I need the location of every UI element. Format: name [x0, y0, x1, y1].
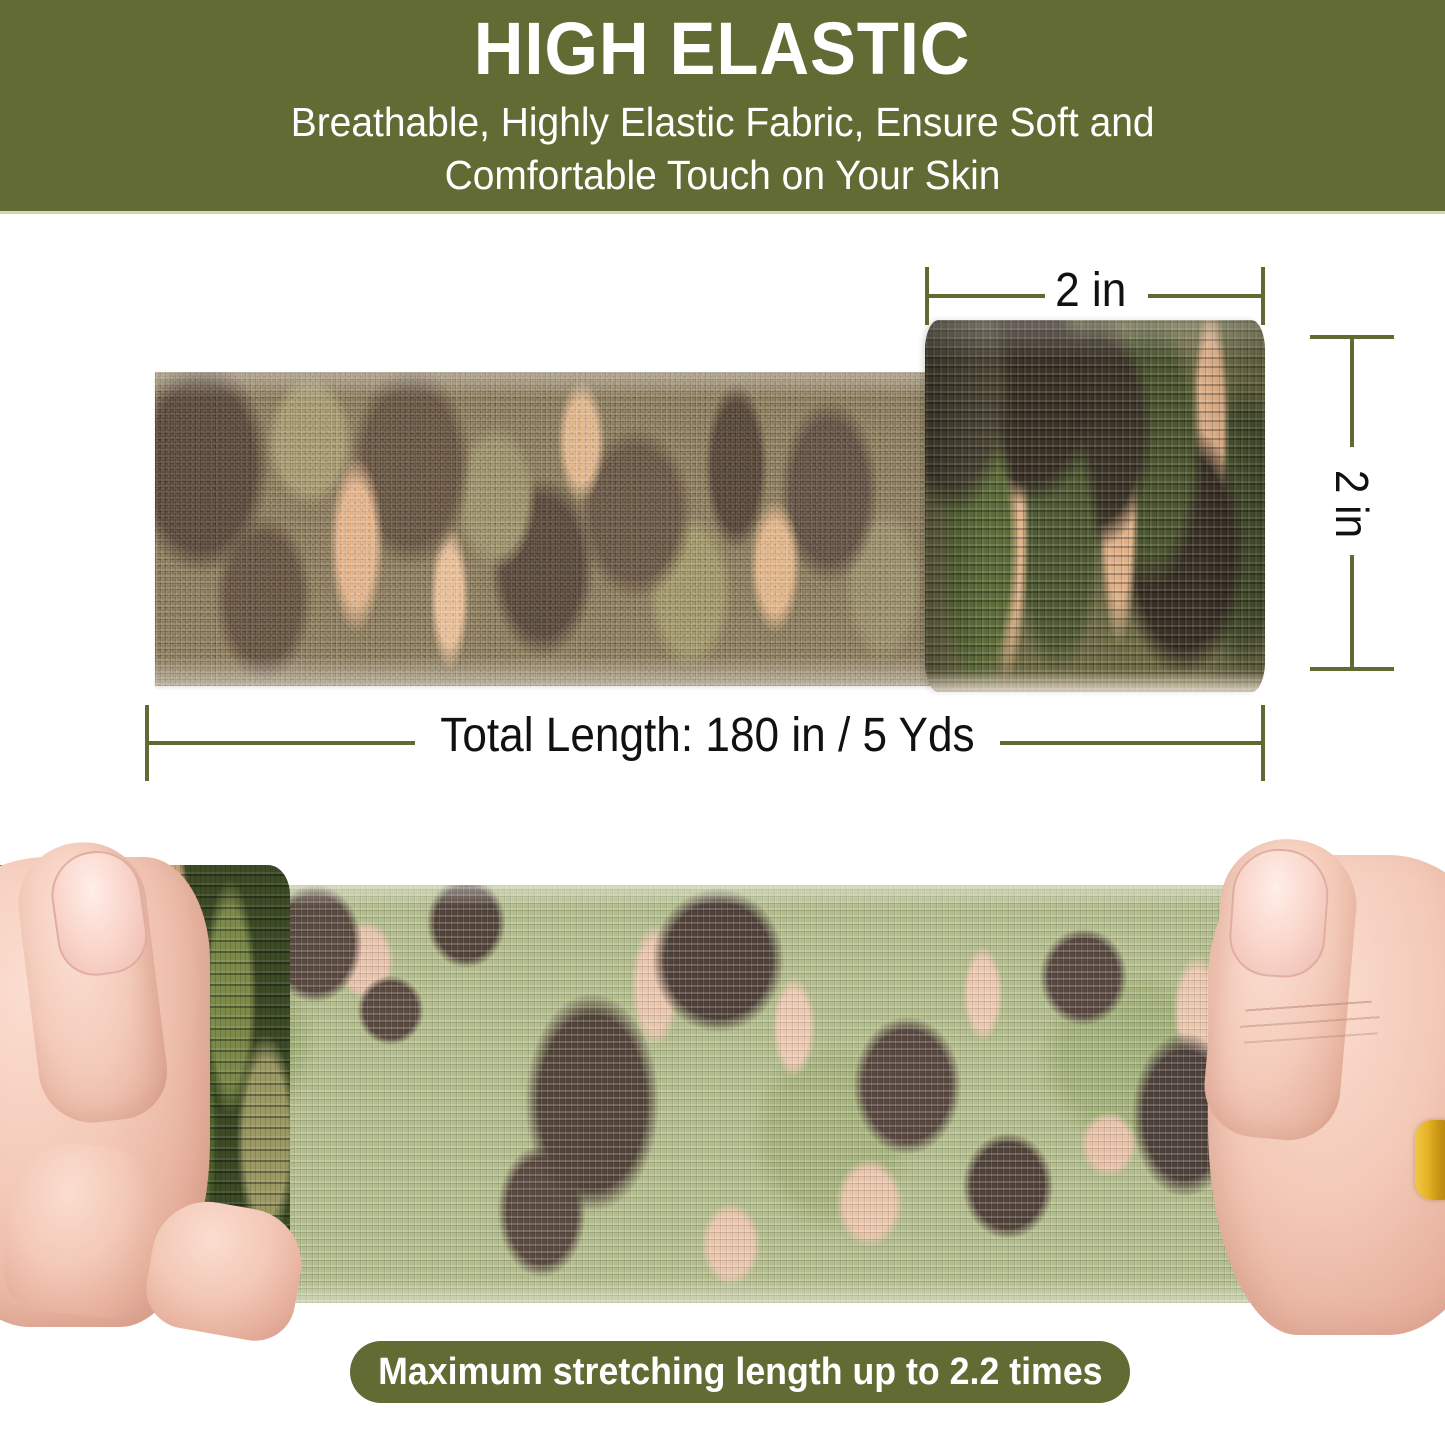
roll-right-shading: [1195, 320, 1265, 692]
length-dim-label: Total Length: 180 in / 5 Yds: [440, 708, 974, 763]
banner-subtitle-line-1: Breathable, Highly Elastic Fabric, Ensur…: [291, 96, 1155, 149]
height-dim-upper-arm: [1350, 335, 1354, 447]
right-thumb-nail: [1227, 846, 1332, 980]
gold-ring: [1415, 1120, 1445, 1200]
strip-bottom-highlight: [155, 656, 930, 686]
stretch-length-badge: Maximum stretching length up to 2.2 time…: [350, 1341, 1130, 1403]
banner-title: HIGH ELASTIC: [474, 12, 971, 86]
length-dim-right-arm: [1000, 741, 1265, 745]
top-product-photo: 2 in 2 in Total Length: 180 in / 5 Yds: [0, 211, 1445, 801]
roll-bottom-edge: [925, 670, 1265, 692]
width-dim-label: 2 in: [1055, 263, 1126, 318]
height-dim-label: 2 in: [1325, 465, 1379, 542]
roll-left-shading: [925, 320, 985, 692]
left-hand-index-finger: [0, 1138, 166, 1323]
camouflage-tape-roll: [925, 320, 1265, 692]
header-banner: HIGH ELASTIC Breathable, Highly Elastic …: [0, 0, 1445, 211]
bottom-demo-photo: [0, 845, 1445, 1345]
stretch-length-badge-text: Maximum stretching length up to 2.2 time…: [378, 1351, 1102, 1394]
right-thumb-knuckle-creases: [1238, 990, 1382, 1060]
width-dim-right-arm: [1148, 294, 1265, 298]
height-dim-lower-arm: [1350, 555, 1354, 671]
width-dim-left-arm: [925, 294, 1045, 298]
strip-fine-weave-texture: [155, 372, 930, 686]
banner-subtitle-line-2: Comfortable Touch on Your Skin: [445, 149, 1001, 202]
camouflage-tape-unrolled-strip: [155, 372, 930, 686]
length-dim-left-arm: [145, 741, 415, 745]
strip-top-highlight: [155, 372, 930, 398]
